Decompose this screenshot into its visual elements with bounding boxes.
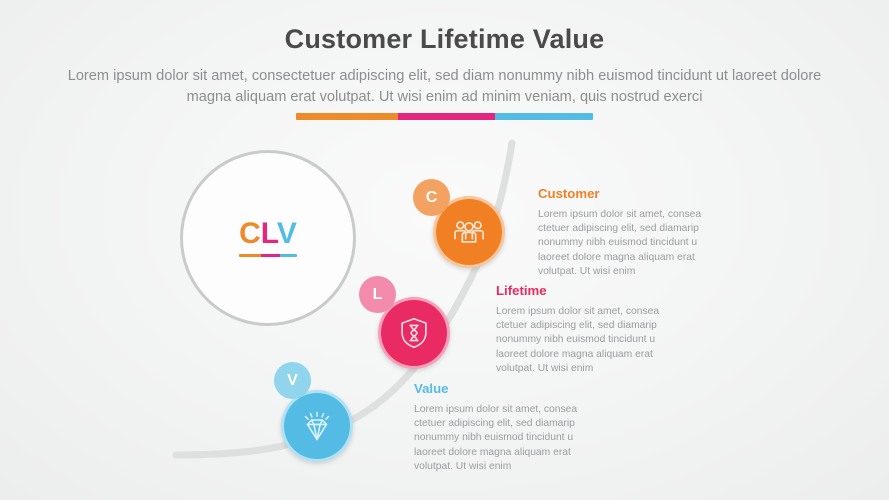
page-subtitle: Lorem ipsum dolor sit amet, consectetuer… (61, 66, 829, 108)
page-title: Customer Lifetime Value (0, 24, 889, 55)
divider-segment-blue (495, 113, 593, 120)
clv-letter-c: C (239, 217, 261, 250)
block-lifetime: Lifetime Lorem ipsum dolor sit amet, con… (496, 283, 686, 376)
block-customer: Customer Lorem ipsum dolor sit amet, con… (538, 186, 728, 279)
block-value-title: Value (414, 381, 604, 396)
people-group-icon (450, 213, 488, 251)
clv-underline-orange (239, 254, 261, 257)
header: Customer Lifetime Value Lorem ipsum dolo… (0, 0, 889, 108)
clv-underline (239, 254, 297, 257)
block-customer-body: Lorem ipsum dolor sit amet, consea ctetu… (538, 208, 728, 279)
diamond-sparkle-icon (298, 407, 336, 445)
clv-letter-v: V (277, 217, 297, 250)
infographic-slide: Customer Lifetime Value Lorem ipsum dolo… (0, 0, 889, 500)
shield-hourglass-icon (395, 314, 433, 352)
divider-segment-pink (398, 113, 495, 120)
node-lifetime-badge[interactable]: L (359, 276, 396, 313)
block-lifetime-body: Lorem ipsum dolor sit amet, consea ctetu… (496, 305, 686, 376)
block-lifetime-title: Lifetime (496, 283, 686, 298)
clv-acronym: CLV (239, 219, 297, 249)
clv-letter-l: L (261, 217, 277, 250)
tricolor-divider (296, 113, 593, 120)
block-value-body: Lorem ipsum dolor sit amet, consea ctetu… (414, 403, 604, 474)
clv-underline-blue (280, 254, 297, 257)
clv-underline-pink (261, 254, 280, 257)
node-value-badge[interactable]: V (274, 362, 311, 399)
node-value-circle[interactable] (281, 390, 353, 462)
node-customer-badge[interactable]: C (413, 179, 450, 216)
divider-segment-orange (296, 113, 398, 120)
block-customer-title: Customer (538, 186, 728, 201)
clv-center-circle: CLV (180, 150, 356, 326)
block-value: Value Lorem ipsum dolor sit amet, consea… (414, 381, 604, 474)
